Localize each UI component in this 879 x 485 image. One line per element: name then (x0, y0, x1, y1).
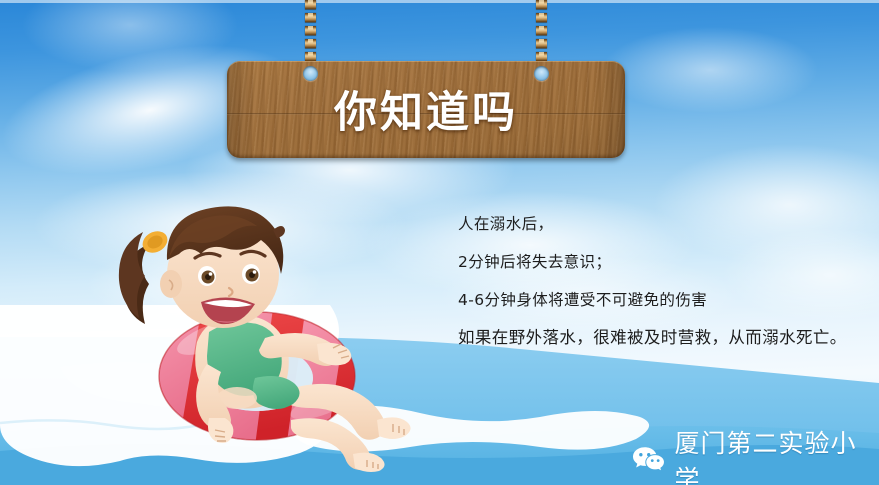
body-line: 如果在野外落水，很难被及时营救，从而溺水死亡。 (458, 319, 868, 357)
girl-illustration (105, 192, 425, 472)
sign-hole-right (534, 66, 549, 81)
sign-hole-left (303, 66, 318, 81)
page-title: 你知道吗 (227, 61, 625, 158)
body-text-block: 人在溺水后， 2分钟后将失去意识； 4-6分钟身体将遭受不可避免的伤害 如果在野… (458, 205, 868, 357)
watermark-label: 厦门第二实验小学 (674, 424, 879, 485)
wechat-logo-icon (632, 446, 665, 474)
body-line: 2分钟后将失去意识； (458, 243, 868, 281)
body-line: 4-6分钟身体将遭受不可避免的伤害 (458, 281, 868, 319)
watermark: 厦门第二实验小学 (632, 424, 879, 485)
poster-canvas: 你知道吗 (0, 0, 879, 485)
wooden-sign-board: 你知道吗 (227, 61, 625, 158)
top-edge-highlight (0, 0, 879, 3)
body-line: 人在溺水后， (458, 205, 868, 243)
